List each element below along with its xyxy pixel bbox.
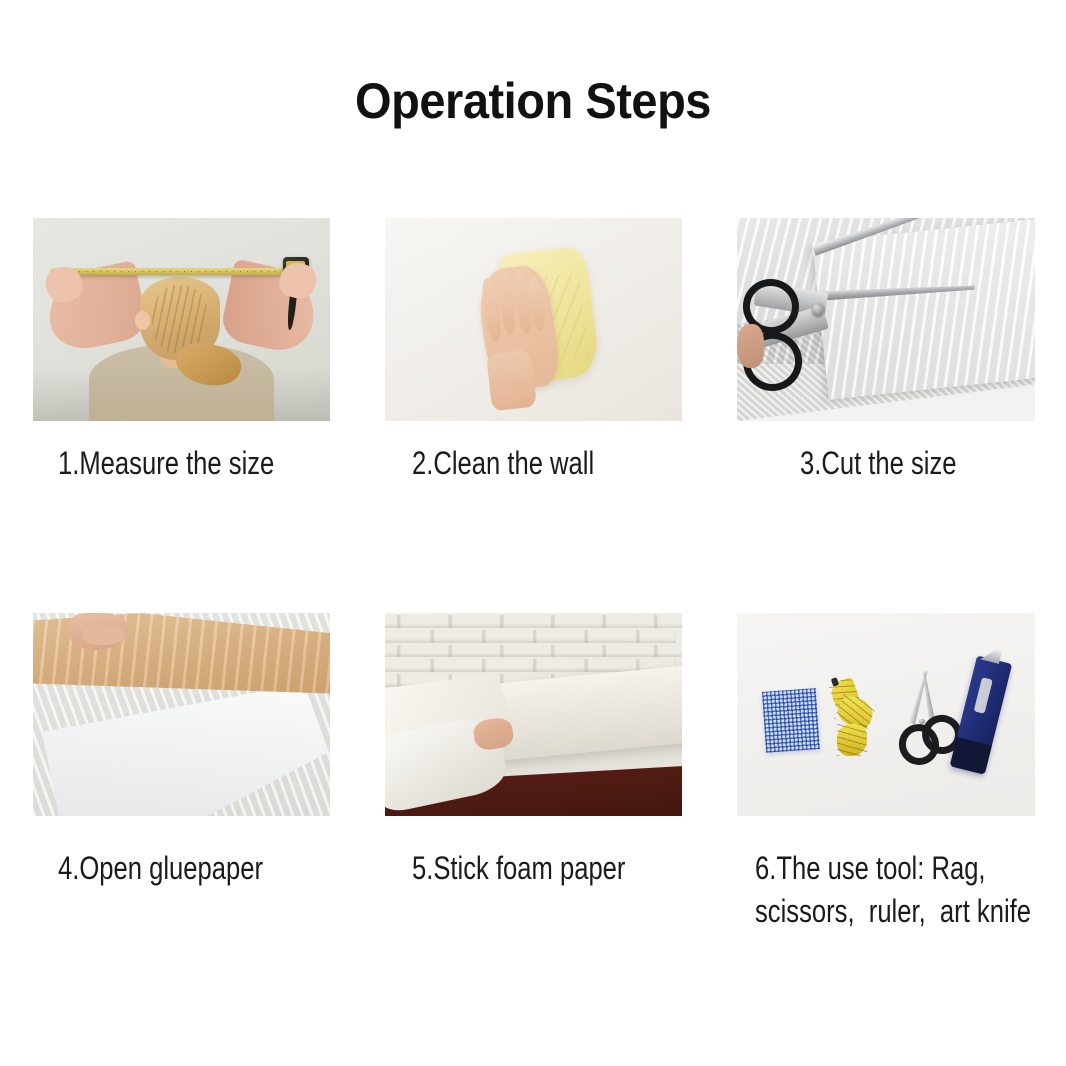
step-4-caption: 4.Open gluepaper <box>58 848 394 888</box>
step-6-caption-line-1: 6.The use tool: Rag, <box>755 848 1066 888</box>
step-5-cell <box>385 613 682 816</box>
steps-grid: 1.Measure the size 2.Clean the wall <box>0 0 1066 1066</box>
step-6-cell <box>737 613 1035 816</box>
step-4-cell <box>33 613 330 816</box>
step-2-cell <box>385 218 682 421</box>
step-3-cut-photo <box>737 218 1035 421</box>
step-2-caption: 2.Clean the wall <box>412 443 748 483</box>
scissors-icon <box>892 670 958 767</box>
step-2-clean-photo <box>385 218 682 421</box>
step-6-tools-photo <box>737 613 1035 816</box>
step-5-stick-photo <box>385 613 682 816</box>
step-1-caption: 1.Measure the size <box>58 443 394 483</box>
step-1-measure-photo <box>33 218 330 421</box>
step-3-caption: 3.Cut the size <box>800 443 1066 483</box>
step-1-cell <box>33 218 330 421</box>
tape-measure-icon <box>829 680 877 761</box>
step-6-caption-line-2: scissors, ruler, art knife <box>755 891 1066 931</box>
step-5-caption: 5.Stick foam paper <box>412 848 764 888</box>
step-4-gluepaper-photo <box>33 613 330 816</box>
operation-steps-infographic: Operation Steps 1. <box>0 0 1066 1066</box>
step-3-cell <box>737 218 1035 421</box>
rag-icon <box>762 688 820 752</box>
